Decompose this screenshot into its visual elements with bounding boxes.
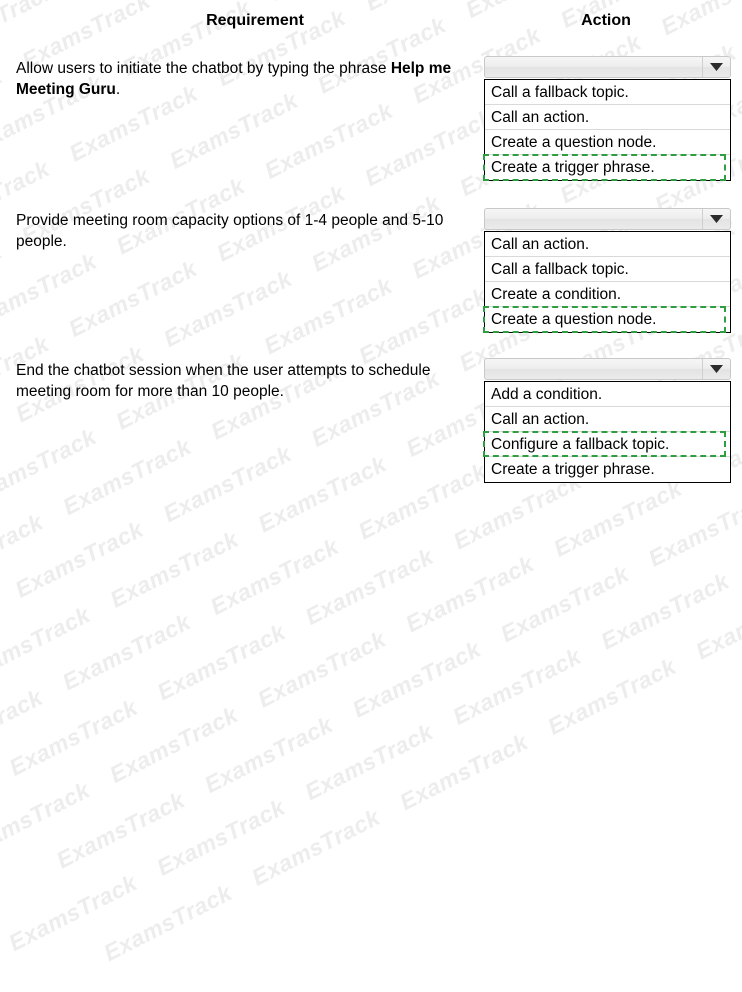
action-dropdown[interactable]: Add a condition. Call an action. Configu… [484, 358, 731, 483]
chevron-down-icon[interactable] [702, 209, 730, 229]
requirement-text: Provide meeting room capacity options of… [16, 210, 456, 252]
requirement-text-suffix: . [116, 81, 120, 98]
option-item[interactable]: Create a question node. [485, 307, 730, 332]
column-header-action: Action [516, 12, 696, 30]
option-item[interactable]: Call a fallback topic. [485, 257, 730, 282]
action-combobox[interactable] [484, 208, 731, 230]
option-item[interactable]: Create a condition. [485, 282, 730, 307]
option-item[interactable]: Create a trigger phrase. [485, 457, 730, 482]
action-combobox[interactable] [484, 56, 731, 78]
question-page: Requirement Action Allow users to initia… [0, 0, 742, 496]
requirement-text: End the chatbot session when the user at… [16, 360, 456, 402]
requirement-text-prefix: Provide meeting room capacity options of… [16, 212, 443, 250]
requirement-text-prefix: End the chatbot session when the user at… [16, 362, 430, 400]
action-option-list[interactable]: Call a fallback topic. Call an action. C… [484, 79, 731, 181]
column-header-requirement: Requirement [155, 12, 355, 30]
action-dropdown[interactable]: Call a fallback topic. Call an action. C… [484, 56, 731, 181]
option-item[interactable]: Configure a fallback topic. [485, 432, 730, 457]
option-item[interactable]: Add a condition. [485, 382, 730, 407]
requirement-text-prefix: Allow users to initiate the chatbot by t… [16, 60, 391, 77]
chevron-down-icon[interactable] [702, 57, 730, 77]
option-item[interactable]: Call a fallback topic. [485, 80, 730, 105]
option-item[interactable]: Call an action. [485, 232, 730, 257]
action-combobox[interactable] [484, 358, 731, 380]
chevron-down-icon[interactable] [702, 359, 730, 379]
option-item[interactable]: Call an action. [485, 105, 730, 130]
requirement-text: Allow users to initiate the chatbot by t… [16, 58, 456, 100]
option-item[interactable]: Create a trigger phrase. [485, 155, 730, 180]
option-item[interactable]: Create a question node. [485, 130, 730, 155]
action-option-list[interactable]: Add a condition. Call an action. Configu… [484, 381, 731, 483]
action-dropdown[interactable]: Call an action. Call a fallback topic. C… [484, 208, 731, 333]
option-item[interactable]: Call an action. [485, 407, 730, 432]
action-option-list[interactable]: Call an action. Call a fallback topic. C… [484, 231, 731, 333]
